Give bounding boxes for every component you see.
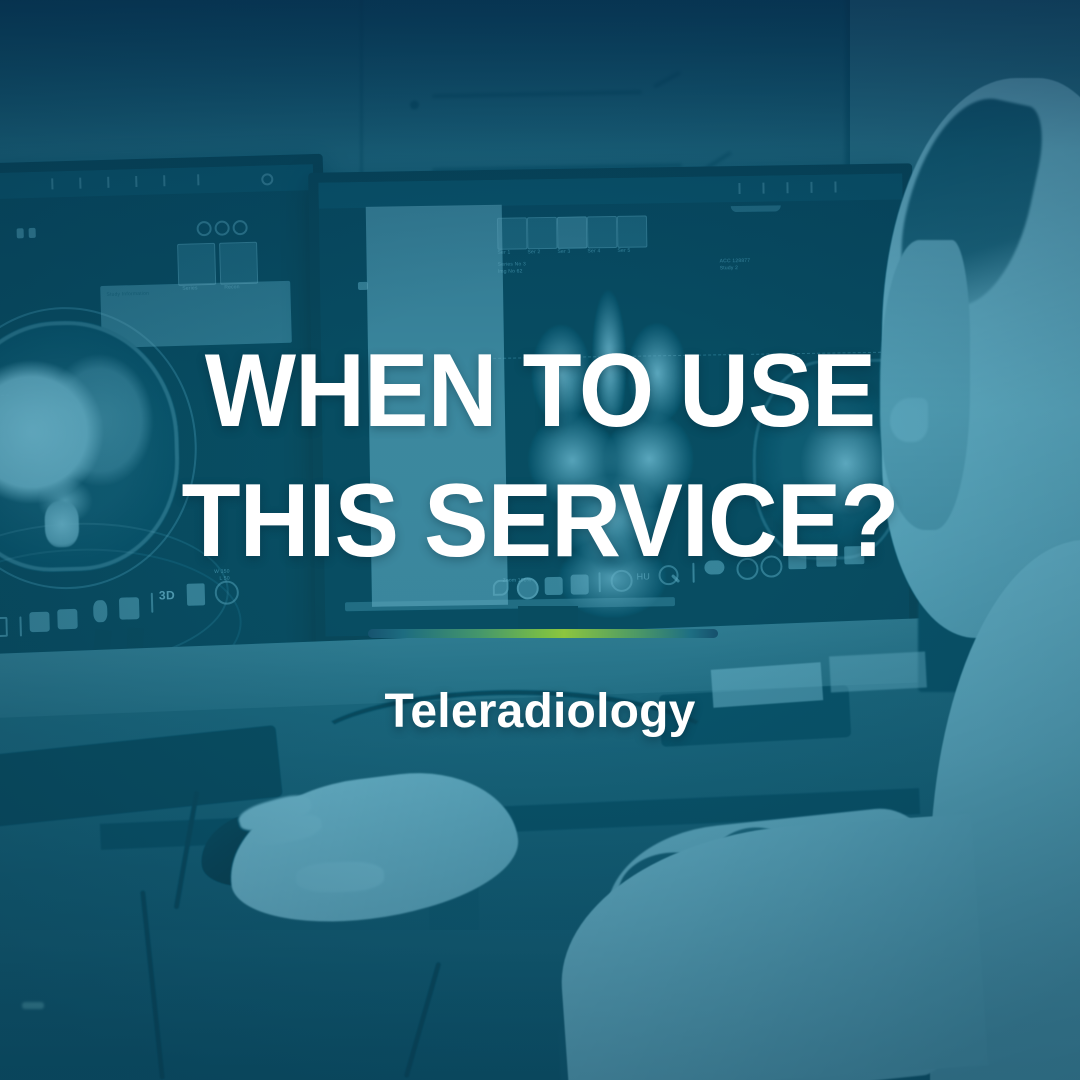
- subtitle: Teleradiology: [0, 684, 1080, 739]
- text-overlay: WHEN TO USE THIS SERVICE? Teleradiology: [0, 0, 1080, 1080]
- title-line-1: WHEN TO USE: [38, 326, 1042, 456]
- gradient-divider: [368, 629, 718, 638]
- promo-graphic: Shuttle Series Recon Series No 3 Img No …: [0, 0, 1080, 1080]
- title-line-2: THIS SERVICE?: [38, 456, 1042, 586]
